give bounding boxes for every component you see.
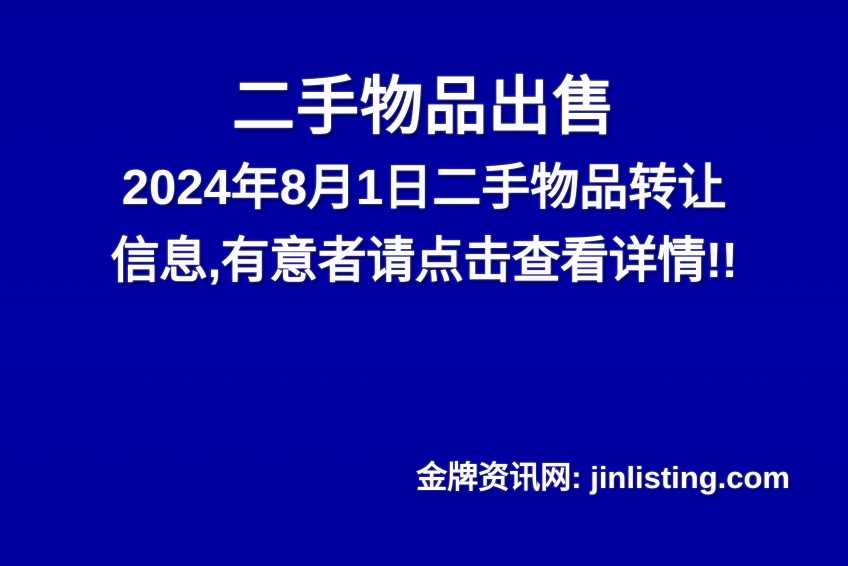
poster-headline: 二手物品出售 <box>0 70 848 144</box>
poster-body-line-1: 2024年8月1日二手物品转让 <box>0 152 848 225</box>
second-hand-sale-poster: 二手物品出售 2024年8月1日二手物品转让 信息,有意者请点击查看详情!! 金… <box>0 0 848 566</box>
poster-body: 2024年8月1日二手物品转让 信息,有意者请点击查看详情!! <box>0 152 848 297</box>
poster-footer-attribution: 金牌资讯网: jinlisting.com <box>416 452 790 497</box>
poster-body-line-2: 信息,有意者请点击查看详情!! <box>0 225 848 298</box>
